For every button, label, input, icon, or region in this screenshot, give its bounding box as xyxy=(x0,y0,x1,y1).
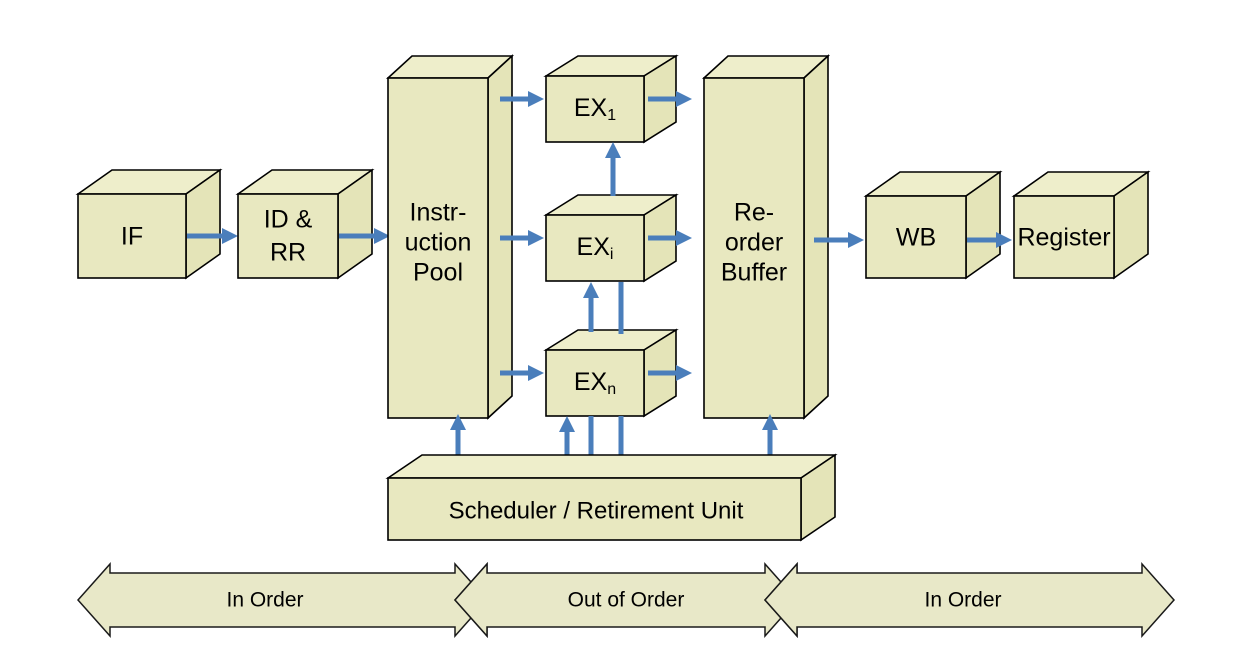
rob-label-line1: Re- xyxy=(734,199,774,227)
pool-label-line1: Instr- xyxy=(410,199,467,227)
scheduler-label: Scheduler / Retirement Unit xyxy=(449,497,744,524)
stage-box-wb: WB xyxy=(866,172,1000,278)
band-2-label: Out of Order xyxy=(568,589,685,612)
rob-label-line2: order xyxy=(725,229,783,257)
order-band-in-order-right: In Order xyxy=(765,564,1174,636)
stage-box-register: Register xyxy=(1014,172,1148,278)
register-label: Register xyxy=(1017,224,1110,252)
band-3-label: In Order xyxy=(924,589,1001,612)
wb-label: WB xyxy=(896,224,936,252)
stage-box-scheduler: Scheduler / Retirement Unit xyxy=(388,455,835,540)
stage-box-id-rr: ID & RR xyxy=(238,170,372,278)
pool-label-line2: uction xyxy=(405,229,472,257)
stage-box-reorder-buffer: Re- order Buffer xyxy=(704,56,828,418)
arrow-exn-to-exi xyxy=(583,282,599,332)
rob-side-face xyxy=(804,56,828,418)
exi-label: EXi xyxy=(577,233,614,264)
pool-label-line3: Pool xyxy=(413,259,463,287)
diagram-canvas: IF ID & RR Instr- uction Pool xyxy=(0,0,1249,661)
scheduler-top-face xyxy=(388,455,835,478)
pipeline-diagram: IF ID & RR Instr- uction Pool xyxy=(0,0,1249,661)
stage-box-if: IF xyxy=(78,170,220,278)
id-rr-label-line2: RR xyxy=(270,239,306,267)
stage-box-instruction-pool: Instr- uction Pool xyxy=(388,56,512,418)
order-band-out-of-order: Out of Order xyxy=(455,564,797,636)
arrow-exi-to-ex1 xyxy=(605,142,621,196)
id-rr-label-line1: ID & xyxy=(264,206,313,234)
band-1-label: In Order xyxy=(226,589,303,612)
if-label: IF xyxy=(121,223,143,251)
order-band-in-order-left: In Order xyxy=(78,564,487,636)
rob-label-line3: Buffer xyxy=(721,259,787,287)
